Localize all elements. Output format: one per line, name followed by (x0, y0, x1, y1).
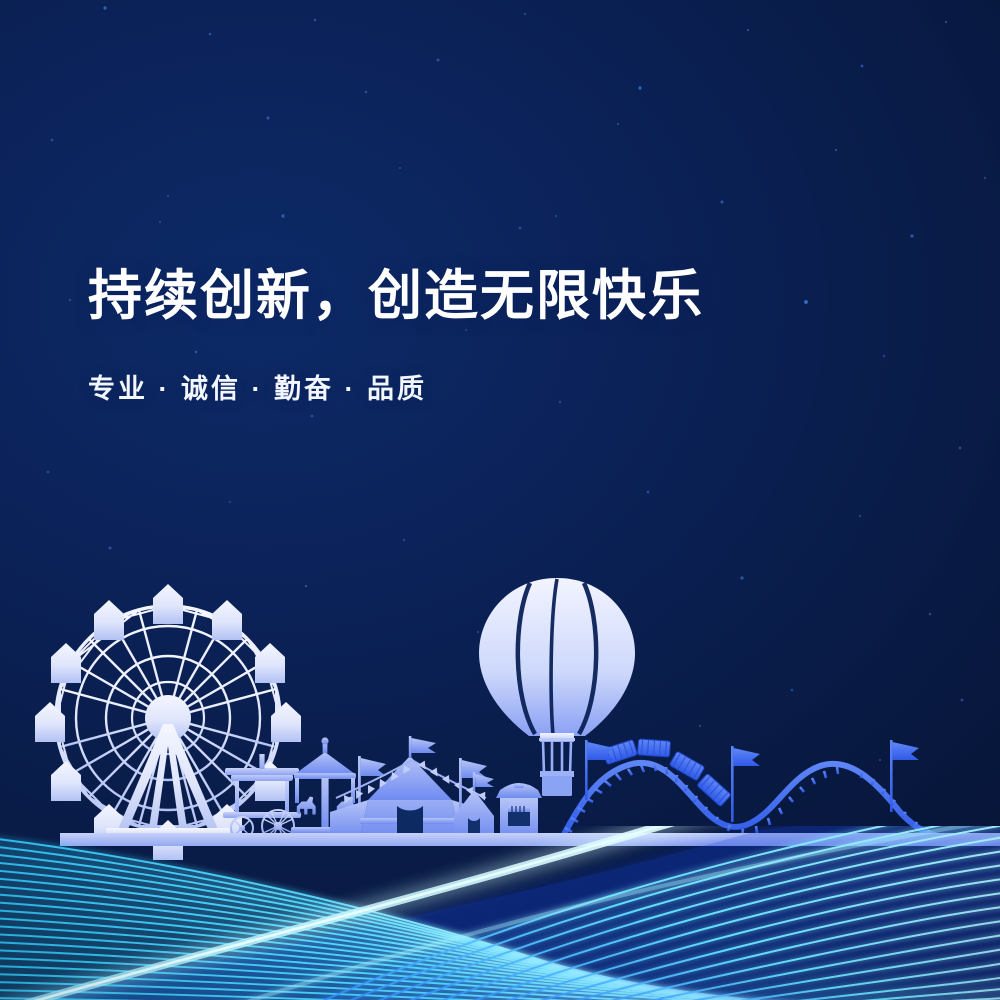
banner-canvas: 持续创新，创造无限快乐 专业 · 诚信 · 勤奋 · 品质 (0, 0, 1000, 1000)
page-subtitle: 专业 · 诚信 · 勤奋 · 品质 (88, 373, 948, 405)
wave-mesh (0, 0, 1000, 1000)
page-title: 持续创新，创造无限快乐 (88, 266, 948, 326)
